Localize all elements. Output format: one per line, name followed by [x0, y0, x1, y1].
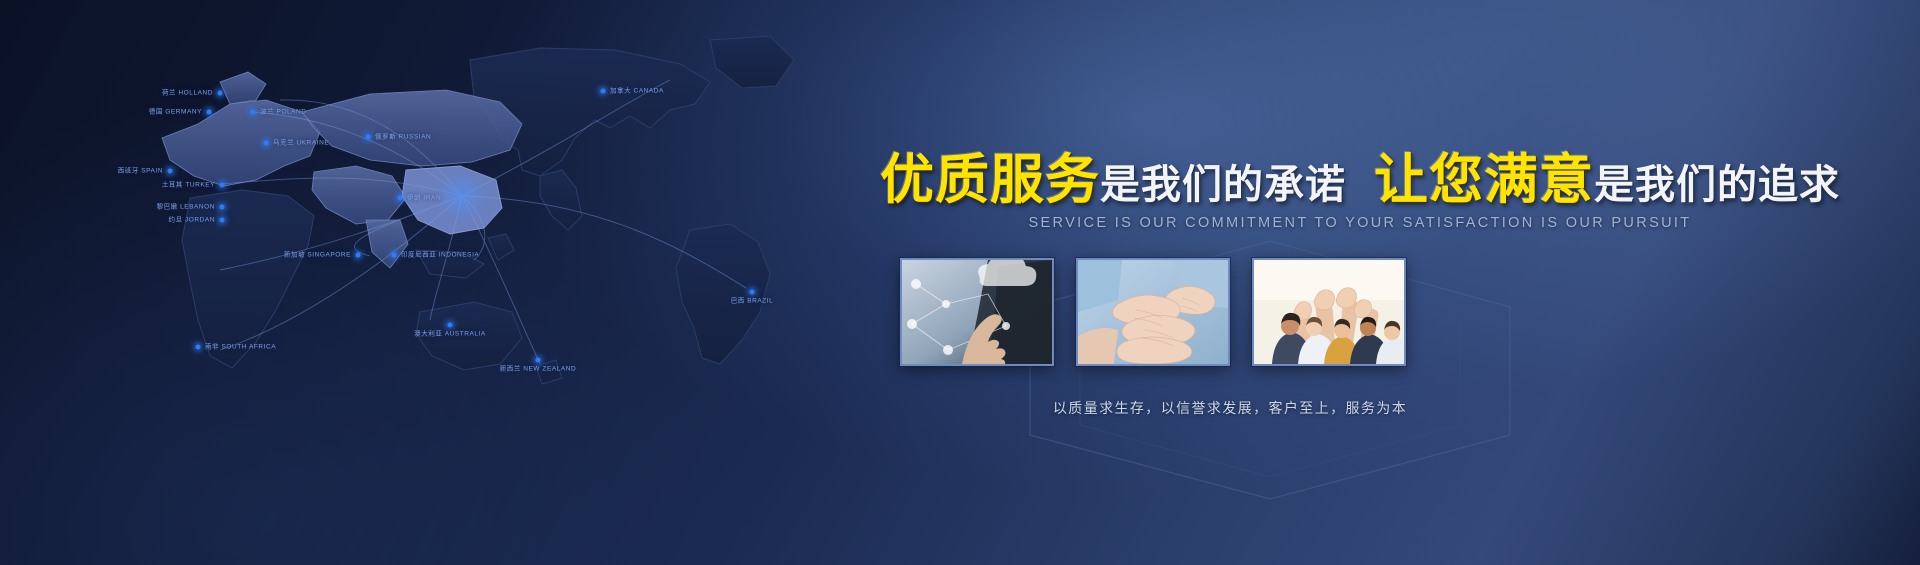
map-label-canada: 加拿大 CANADA	[610, 87, 664, 94]
headline: 优质服务是我们的承诺让您满意是我们的追求	[820, 135, 1900, 214]
hero-banner: 荷兰 HOLLAND波兰 POLAND德国 GERMANY俄罗斯 RUSSIAN…	[0, 0, 1920, 565]
map-dot-poland[interactable]	[251, 110, 256, 115]
map-label-singapore: 新加坡 SINGAPORE	[284, 251, 351, 258]
map-dot-russian[interactable]	[366, 135, 371, 140]
map-dot-indonesia[interactable]	[392, 253, 397, 258]
map-dot-new-zealand[interactable]	[536, 358, 541, 363]
cloud-computing-touch-graphic	[902, 260, 1052, 364]
hands-together-graphic	[1078, 260, 1228, 364]
map-label-lebanon: 黎巴嫩 LEBANON	[157, 203, 215, 210]
map-dot-australia[interactable]	[448, 323, 453, 328]
map-dot-spain[interactable]	[168, 169, 173, 174]
map-label-brazil: 巴西 BRAZIL	[731, 297, 774, 304]
headline-plain-2: 是我们的追求	[1594, 163, 1840, 207]
team-highfive-graphic	[1254, 260, 1404, 364]
tagline: 以质量求生存，以信誉求发展，客户至上，服务为本	[820, 398, 1640, 418]
map-label-new-zealand: 新西兰 NEW ZEALAND	[500, 365, 577, 372]
headline-plain-1: 是我们的承诺	[1100, 163, 1346, 207]
map-label-south-africa: 南非 SOUTH AFRICA	[205, 343, 276, 350]
map-label-poland: 波兰 POLAND	[260, 108, 307, 115]
world-map: 荷兰 HOLLAND波兰 POLAND德国 GERMANY俄罗斯 RUSSIAN…	[70, 20, 900, 420]
map-label-australia: 澳大利亚 AUSTRALIA	[414, 330, 486, 337]
map-dot-lebanon[interactable]	[220, 205, 225, 210]
map-dot-germany[interactable]	[207, 110, 212, 115]
map-dot-singapore[interactable]	[356, 253, 361, 258]
map-label-iran: 伊朗 IRAN	[407, 194, 441, 201]
headline-highlight-1: 优质服务	[880, 150, 1100, 210]
map-label-russian: 俄罗斯 RUSSIAN	[375, 133, 431, 140]
map-dot-holland[interactable]	[218, 91, 223, 96]
map-dot-ukraine[interactable]	[264, 141, 269, 146]
hands-together-photo[interactable]	[1076, 258, 1230, 366]
map-dot-jordan[interactable]	[220, 218, 225, 223]
map-label-turkey: 土耳其 TURKEY	[162, 181, 215, 188]
photo-strip	[900, 258, 1406, 366]
banner-content: 优质服务是我们的承诺让您满意是我们的追求 SERVICE IS OUR COMM…	[820, 0, 1920, 565]
map-label-germany: 德国 GERMANY	[149, 108, 202, 115]
map-dot-brazil[interactable]	[750, 290, 755, 295]
cloud-computing-touch-photo[interactable]	[900, 258, 1054, 366]
map-dot-canada[interactable]	[601, 89, 606, 94]
headline-highlight-2: 让您满意	[1374, 150, 1594, 210]
subtitle-english: SERVICE IS OUR COMMITMENT TO YOUR SATISF…	[820, 215, 1900, 231]
map-label-holland: 荷兰 HOLLAND	[162, 89, 213, 96]
team-highfive-photo[interactable]	[1252, 258, 1406, 366]
map-label-ukraine: 乌克兰 UKRAINE	[273, 139, 329, 146]
map-label-indonesia: 印度尼西亚 INDONESIA	[401, 251, 479, 258]
map-dot-south-africa[interactable]	[196, 345, 201, 350]
map-dot-iran[interactable]	[398, 196, 403, 201]
map-dot-turkey[interactable]	[220, 183, 225, 188]
map-label-jordan: 约旦 JORDAN	[169, 216, 215, 223]
map-label-spain: 西班牙 SPAIN	[118, 167, 163, 174]
